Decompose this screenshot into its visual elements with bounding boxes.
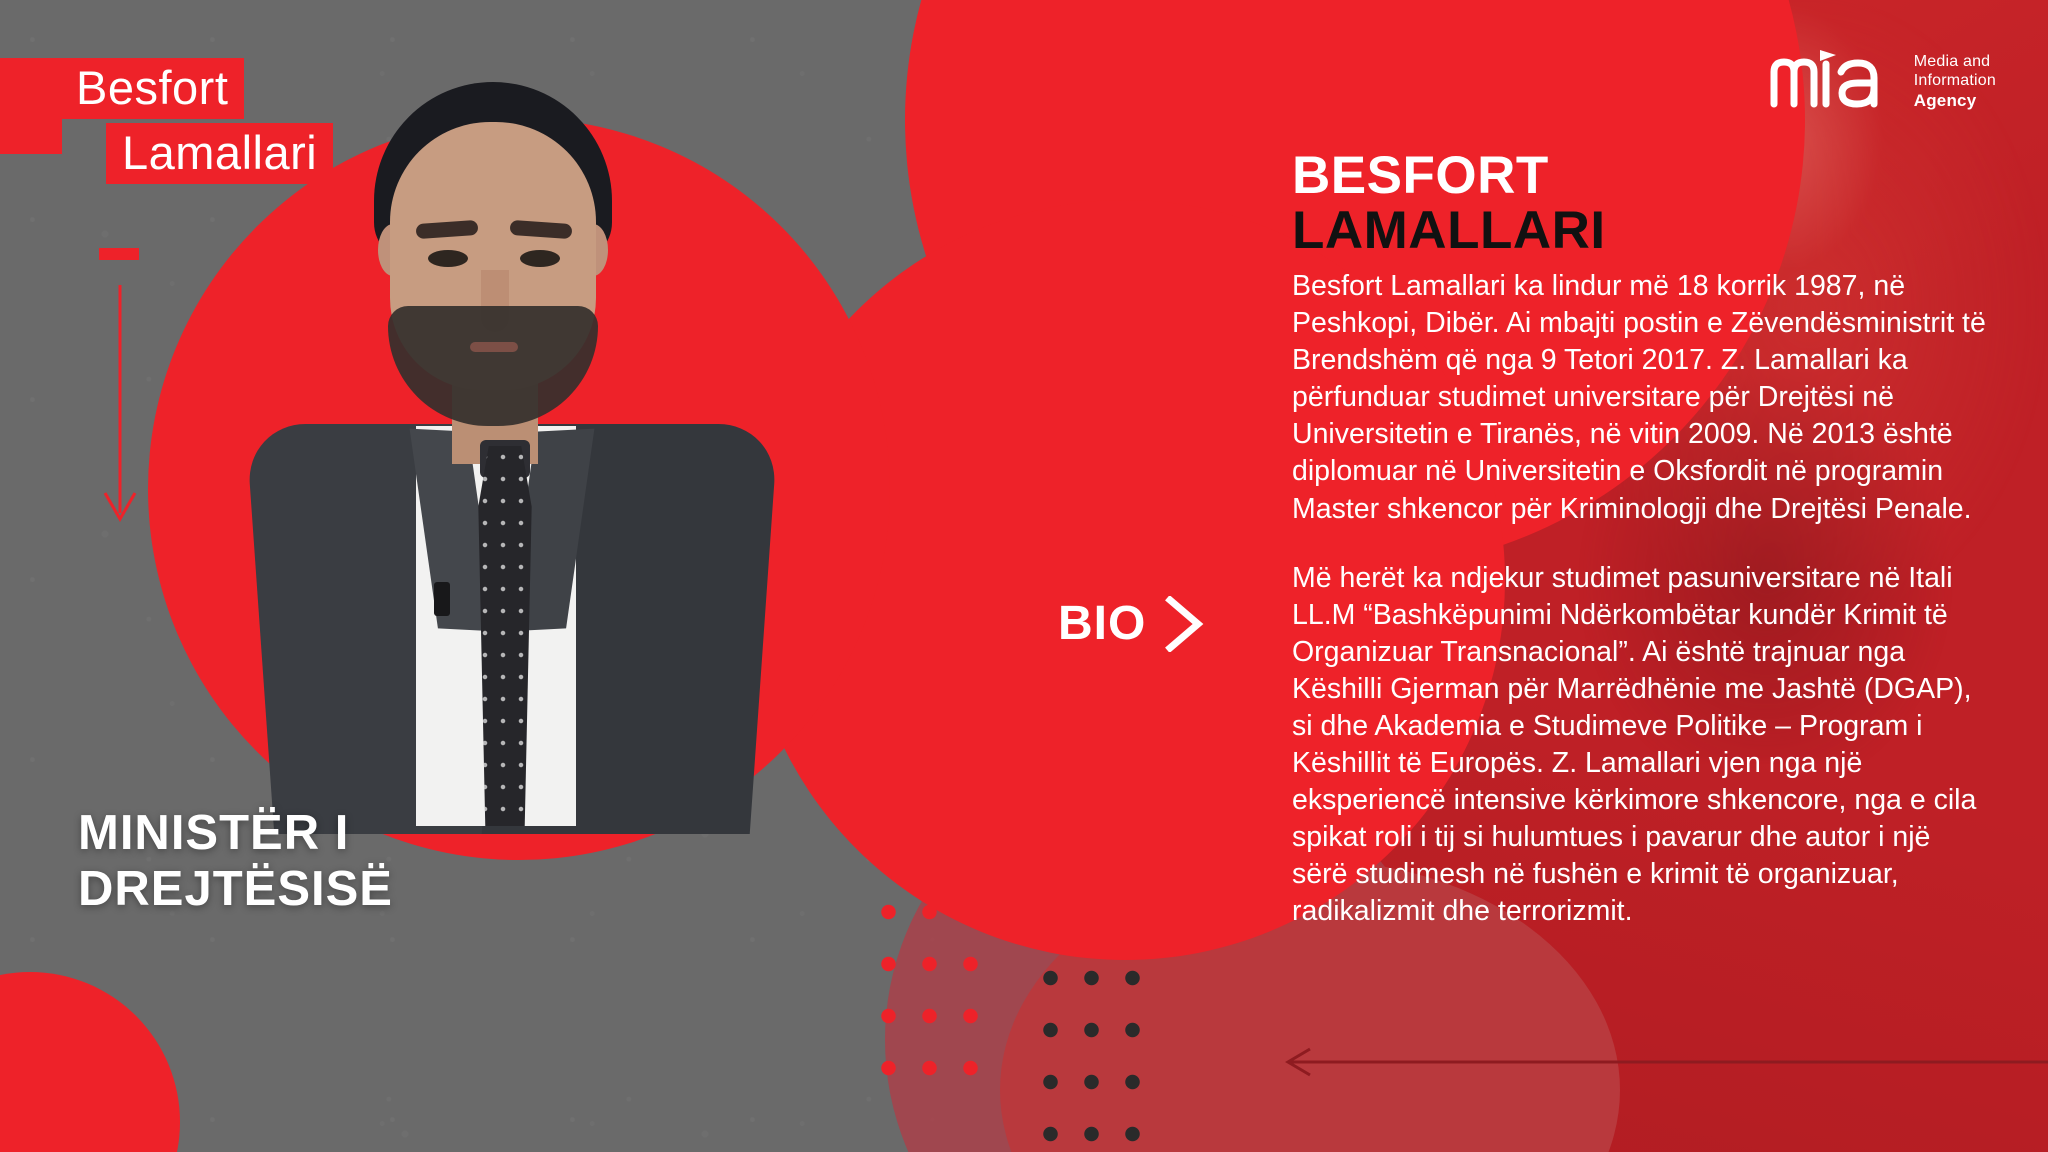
mia-tagline-line-3: Agency <box>1914 91 1996 112</box>
arrow-left-icon <box>1280 1045 2048 1079</box>
bio-panel: BESFORT LAMALLARI Besfort Lamallari ka l… <box>1292 148 1992 962</box>
mia-logo: Media and Information Agency <box>1770 50 1996 113</box>
page-title: MINISTËR I DREJTËSISË <box>78 806 393 918</box>
dot-grid-icon <box>868 886 998 1086</box>
mia-wordmark-icon <box>1770 50 1900 113</box>
infographic-slide: Besfort Lamallari MINISTËR I DREJTËSISË … <box>0 0 2048 1152</box>
person-portrait-photo <box>238 74 838 834</box>
bio-heading-last-name: LAMALLARI <box>1292 203 1992 258</box>
bio-paragraph-2: Më herët ka ndjekur studimet pasuniversi… <box>1292 560 1992 930</box>
job-title-line-1: MINISTËR I <box>78 806 393 862</box>
job-title-line-2: DREJTËSISË <box>78 862 393 918</box>
bio-heading: BESFORT LAMALLARI <box>1292 148 1992 258</box>
bio-button-label: BIO <box>1058 600 1146 648</box>
arrow-down-icon <box>100 285 140 525</box>
mia-tagline-line-2: Information <box>1914 71 1996 91</box>
bio-button[interactable]: BIO <box>1058 596 1206 652</box>
mia-tagline-line-1: Media and <box>1914 52 1996 72</box>
dot-grid-icon <box>1030 952 1165 1152</box>
name-banner-line-1: Besfort <box>60 58 244 119</box>
chevron-right-icon <box>1162 596 1206 652</box>
bio-heading-first-name: BESFORT <box>1292 148 1992 203</box>
name-banner-line-2: Lamallari <box>106 123 333 184</box>
bio-paragraph-1: Besfort Lamallari ka lindur më 18 korrik… <box>1292 268 1992 527</box>
name-banner: Besfort Lamallari <box>60 58 333 184</box>
mia-tagline: Media and Information Agency <box>1914 52 1996 112</box>
dash-icon <box>99 248 139 260</box>
dash-icon <box>101 1089 141 1101</box>
